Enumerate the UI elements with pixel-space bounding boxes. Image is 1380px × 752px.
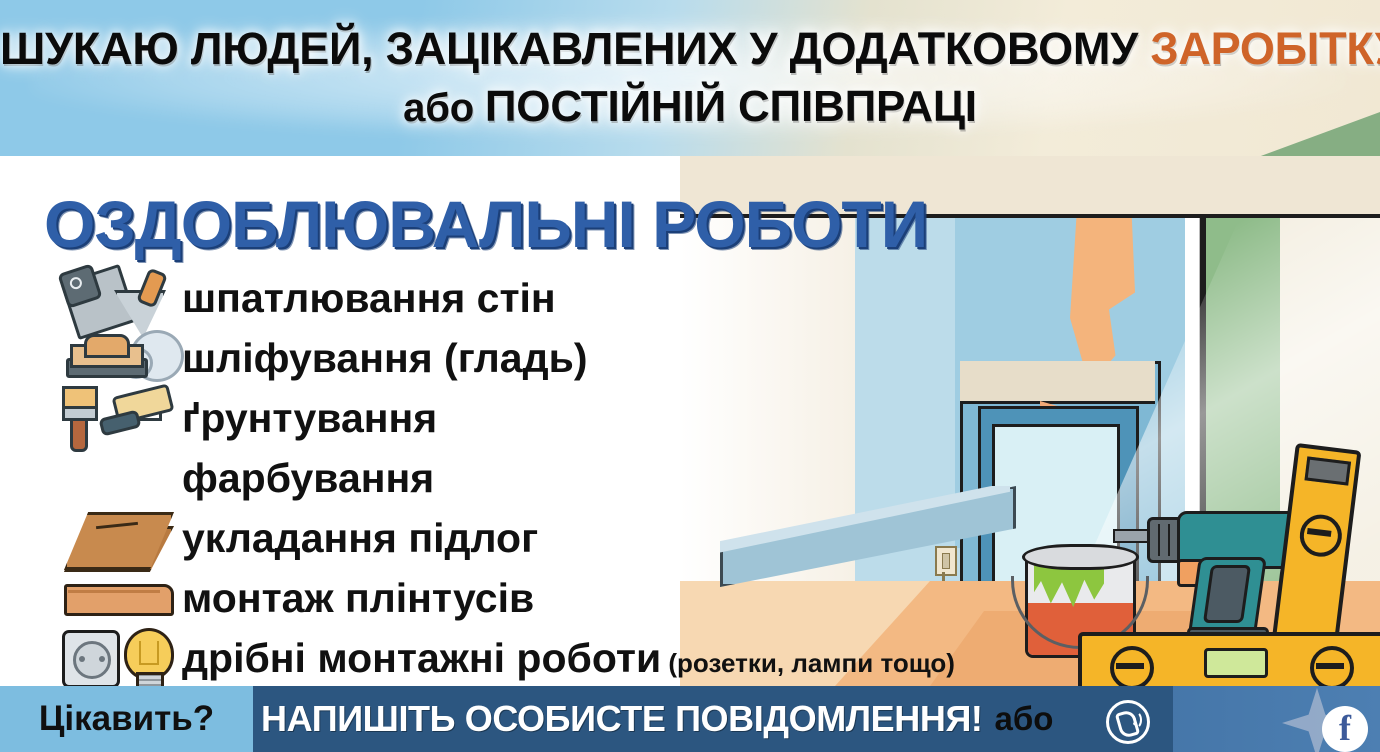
service-label-main: дрібні монтажні роботи <box>182 635 661 681</box>
service-label-note: (розетки, лампи тощо) <box>661 648 955 678</box>
service-label: монтаж плінтусів <box>182 577 534 620</box>
socket-bulb-icon <box>56 628 182 686</box>
page-title: ОЗДОБЛЮВАЛЬНІ РОБОТИ <box>44 186 927 262</box>
service-label: шпатлювання стін <box>182 277 556 320</box>
header-line1-text: ШУКАЮ ЛЮДЕЙ, ЗАЦІКАВЛЕНИХ У ДОДАТКОВОМУ <box>0 23 1150 74</box>
header-line1-accent: ЗАРОБІТКУ <box>1150 23 1380 74</box>
service-label: ґрунтування <box>182 397 437 440</box>
sanding-float-dust-icon <box>56 328 182 390</box>
services-list: шпатлювання стін шліфування (гладь) ґрун… <box>56 268 1066 686</box>
header-line2-uppercase: ПОСТІЙНІЙ СПІВПРАЦІ <box>485 82 977 131</box>
header-banner: ШУКАЮ ЛЮДЕЙ, ЗАЦІКАВЛЕНИХ У ДОДАТКОВОМУ … <box>0 0 1380 156</box>
footer-cta-bar: Цікавить? НАПИШІТЬ ОСОБИСТЕ ПОВІДОМЛЕННЯ… <box>0 686 1380 752</box>
service-label: дрібні монтажні роботи (розетки, лампи т… <box>182 637 955 680</box>
footer-question-block: Цікавить? <box>0 686 253 752</box>
service-label: шліфування (гладь) <box>182 337 588 380</box>
list-item: монтаж плінтусів <box>56 568 1066 630</box>
putty-knife-trowel-icon <box>56 268 182 330</box>
header-line2-lowercase: або <box>403 86 485 130</box>
service-label: фарбування <box>182 457 434 500</box>
service-label: укладання підлог <box>182 517 538 560</box>
list-item: шліфування (гладь) <box>56 328 1066 390</box>
wood-flooring-icon <box>56 508 182 570</box>
facebook-letter: f <box>1339 710 1351 746</box>
paint-brush-roller-icon <box>56 388 182 450</box>
footer-question: Цікавить? <box>39 699 214 739</box>
viber-icon[interactable] <box>1106 700 1150 744</box>
list-item: укладання підлог <box>56 508 1066 570</box>
list-item: ґрунтування <box>56 388 1066 450</box>
paint-brush-roller-icon-secondary <box>56 448 182 510</box>
header-line-1: ШУКАЮ ЛЮДЕЙ, ЗАЦІКАВЛЕНИХ У ДОДАТКОВОМУ … <box>0 26 1380 71</box>
main-content: ОЗДОБЛЮВАЛЬНІ РОБОТИ шпатлювання стін шл… <box>0 156 1380 686</box>
facebook-icon[interactable]: f <box>1322 706 1368 752</box>
advertisement-poster: ШУКАЮ ЛЮДЕЙ, ЗАЦІКАВЛЕНИХ У ДОДАТКОВОМУ … <box>0 0 1380 752</box>
list-item: дрібні монтажні роботи (розетки, лампи т… <box>56 628 1066 686</box>
footer-message-block[interactable]: НАПИШІТЬ ОСОБИСТЕ ПОВІДОМЛЕННЯ! або <box>253 686 1173 752</box>
list-item: фарбування <box>56 448 1066 510</box>
footer-message: НАПИШІТЬ ОСОБИСТЕ ПОВІДОМЛЕННЯ! <box>261 698 983 740</box>
footer-or: або <box>995 700 1054 738</box>
spirit-level-horizontal <box>1078 632 1380 686</box>
header-line-2: або ПОСТІЙНІЙ СПІВПРАЦІ <box>0 85 1380 129</box>
list-item: шпатлювання стін <box>56 268 1066 330</box>
skirting-board-icon <box>56 568 182 630</box>
